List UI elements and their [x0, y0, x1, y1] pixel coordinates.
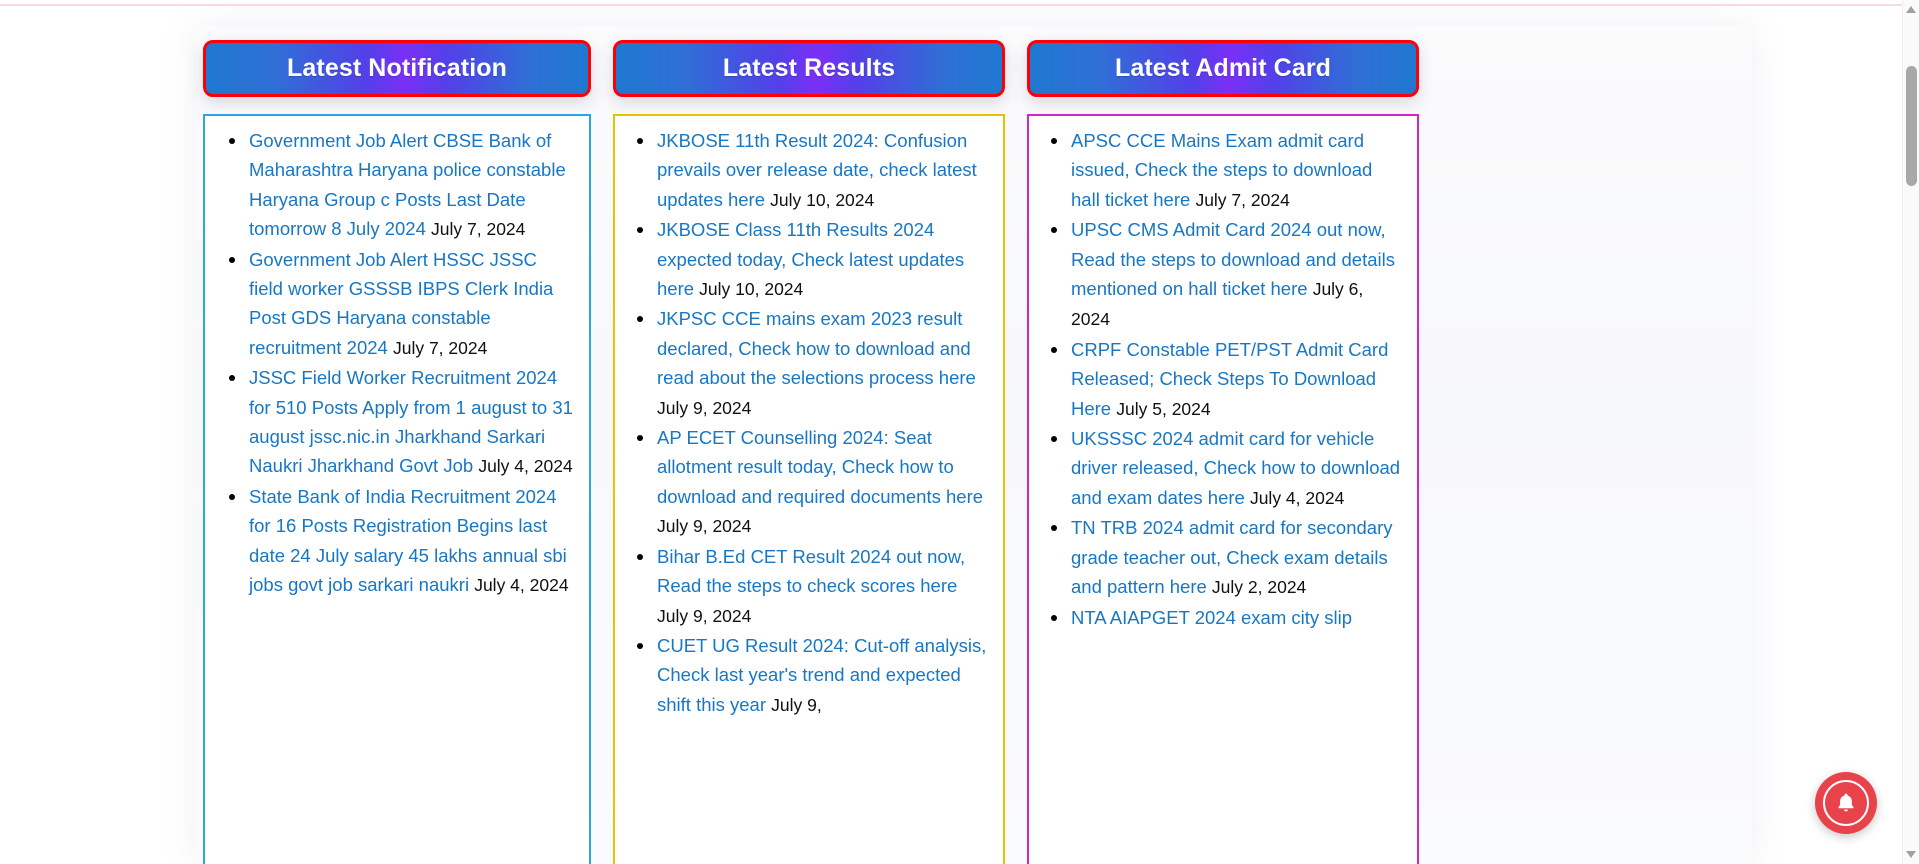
news-link[interactable]: Bihar B.Ed CET Result 2024 out now, Read… — [657, 546, 965, 596]
header-title-latest-admit-card: Latest Admit Card — [1115, 54, 1331, 83]
scroll-up-arrow-icon[interactable] — [1906, 6, 1916, 13]
list-item: JKPSC CCE mains exam 2023 result declare… — [657, 304, 987, 423]
news-link[interactable]: AP ECET Counselling 2024: Seat allotment… — [657, 427, 983, 507]
news-date: July 5, 2024 — [1116, 399, 1210, 419]
bell-icon — [1834, 791, 1858, 815]
news-date: July 7, 2024 — [431, 219, 525, 239]
news-date: July 10, 2024 — [699, 279, 803, 299]
news-date: July 9, 2024 — [657, 516, 751, 536]
news-link[interactable]: JKPSC CCE mains exam 2023 result declare… — [657, 308, 976, 388]
news-date: July 9, — [771, 695, 822, 715]
list-item: APSC CCE Mains Exam admit card issued, C… — [1071, 126, 1401, 215]
scrollbar-thumb[interactable] — [1906, 66, 1917, 186]
news-date: July 2, 2024 — [1212, 577, 1306, 597]
list-item: AP ECET Counselling 2024: Seat allotment… — [657, 423, 987, 542]
list-item: JKBOSE Class 11th Results 2024 expected … — [657, 215, 987, 304]
header-latest-results[interactable]: Latest Results — [613, 40, 1005, 97]
page-scrollbar[interactable] — [1902, 0, 1919, 864]
news-date: July 10, 2024 — [770, 190, 874, 210]
news-date: July 9, 2024 — [657, 606, 751, 626]
column-latest-admit-card: Latest Admit Card APSC CCE Mains Exam ad… — [1027, 40, 1419, 864]
page-root: Latest Notification Government Job Alert… — [0, 0, 1919, 864]
news-list-latest-notification: Government Job Alert CBSE Bank of Mahara… — [215, 126, 579, 601]
news-link[interactable]: NTA AIAPGET 2024 exam city slip — [1071, 607, 1352, 628]
header-latest-notification[interactable]: Latest Notification — [203, 40, 591, 97]
news-date: July 7, 2024 — [393, 338, 487, 358]
list-item: TN TRB 2024 admit card for secondary gra… — [1071, 513, 1401, 602]
list-item: Government Job Alert CBSE Bank of Mahara… — [249, 126, 573, 245]
news-list-latest-admit-card: APSC CCE Mains Exam admit card issued, C… — [1039, 126, 1407, 633]
list-item: CRPF Constable PET/PST Admit Card Releas… — [1071, 335, 1401, 424]
list-box-latest-notification: Government Job Alert CBSE Bank of Mahara… — [203, 114, 591, 864]
bell-ring-outline — [1823, 780, 1869, 826]
header-title-latest-notification: Latest Notification — [287, 54, 507, 83]
header-title-latest-results: Latest Results — [723, 54, 895, 83]
top-divider — [0, 4, 1919, 6]
list-box-latest-admit-card: APSC CCE Mains Exam admit card issued, C… — [1027, 114, 1419, 864]
column-latest-notification: Latest Notification Government Job Alert… — [203, 40, 591, 864]
list-item: NTA AIAPGET 2024 exam city slip — [1071, 603, 1401, 633]
news-date: July 7, 2024 — [1195, 190, 1289, 210]
column-latest-results: Latest Results JKBOSE 11th Result 2024: … — [613, 40, 1005, 864]
list-box-latest-results: JKBOSE 11th Result 2024: Confusion preva… — [613, 114, 1005, 864]
news-link[interactable]: UKSSSC 2024 admit card for vehicle drive… — [1071, 428, 1400, 508]
list-item: State Bank of India Recruitment 2024 for… — [249, 482, 573, 601]
list-item: JKBOSE 11th Result 2024: Confusion preva… — [657, 126, 987, 215]
scroll-down-arrow-icon[interactable] — [1906, 851, 1916, 858]
list-item: UKSSSC 2024 admit card for vehicle drive… — [1071, 424, 1401, 513]
news-date: July 4, 2024 — [478, 456, 572, 476]
news-date: July 9, 2024 — [657, 398, 751, 418]
list-item: Bihar B.Ed CET Result 2024 out now, Read… — [657, 542, 987, 631]
header-latest-admit-card[interactable]: Latest Admit Card — [1027, 40, 1419, 97]
list-item: JSSC Field Worker Recruitment 2024 for 5… — [249, 363, 573, 482]
list-item: CUET UG Result 2024: Cut-off analysis, C… — [657, 631, 987, 720]
list-item: UPSC CMS Admit Card 2024 out now, Read t… — [1071, 215, 1401, 335]
updates-columns: Latest Notification Government Job Alert… — [203, 40, 1749, 864]
notification-fab-button[interactable] — [1815, 772, 1877, 834]
list-item: Government Job Alert HSSC JSSC field wor… — [249, 245, 573, 364]
news-date: July 4, 2024 — [1250, 488, 1344, 508]
news-list-latest-results: JKBOSE 11th Result 2024: Confusion preva… — [625, 126, 993, 720]
news-date: July 4, 2024 — [474, 575, 568, 595]
